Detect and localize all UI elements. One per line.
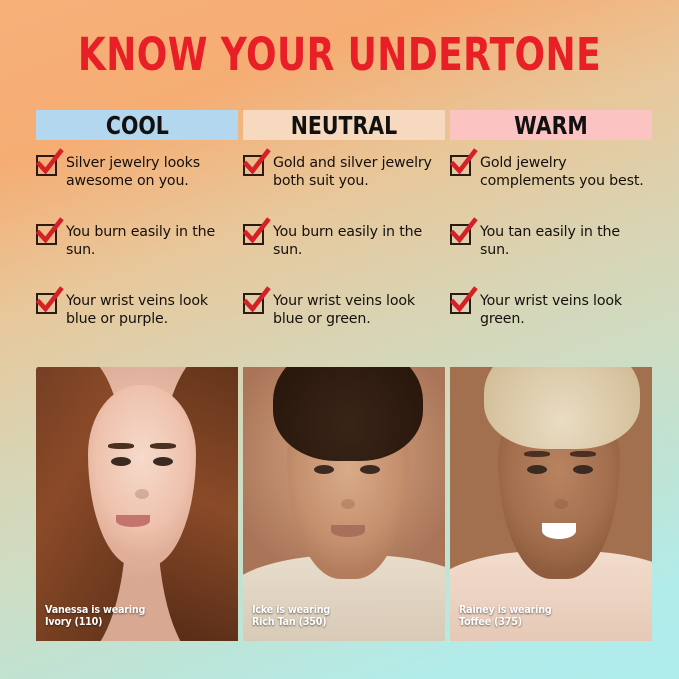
undertone-infographic: KNOW YOUR UNDERTONE COOL Silver jewelry … [0,0,679,679]
check-icon [450,224,471,245]
eye-shape [360,465,380,474]
nose-shape [341,499,355,509]
photo-caption-line2: Ivory (110) [45,616,145,629]
column-header-warm: WARM [450,110,652,140]
list-item-text: Gold jewelry complements you best. [480,153,652,190]
list-item: Gold jewelry complements you best. [450,153,652,205]
eyebrow-shape [150,443,176,449]
list-item: Gold and silver jewelry both suit you. [243,153,445,205]
check-icon [36,155,57,176]
check-icon [450,293,471,314]
column-header-cool: COOL [36,110,238,140]
list-item-text: Your wrist veins look green. [480,291,652,328]
list-item: You burn easily in the sun. [243,222,445,274]
checklist-warm: Gold jewelry complements you best. You t… [450,153,652,343]
eyebrow-shape [108,443,134,449]
eyebrow-shape [570,451,596,457]
eye-shape [153,457,173,466]
photo-caption: Icke is wearing Rich Tan (350) [252,604,330,629]
mouth-shape [542,523,576,539]
undertone-columns: COOL Silver jewelry looks awesome on you… [36,110,645,360]
list-item-text: You burn easily in the sun. [66,222,238,259]
column-header-warm-label: WARM [514,111,588,140]
nose-shape [554,499,568,509]
column-header-cool-label: COOL [106,111,169,140]
model-photo-rainey: Rainey is wearing Toffee (375) [450,367,652,641]
list-item-text: Silver jewelry looks awesome on you. [66,153,238,190]
model-photo-vanessa: Vanessa is wearing Ivory (110) [36,367,238,641]
check-icon [243,293,264,314]
check-icon [243,224,264,245]
column-neutral: NEUTRAL Gold and silver jewelry both sui… [243,110,445,360]
column-header-neutral: NEUTRAL [243,110,445,140]
mouth-shape [116,515,150,527]
page-title: KNOW YOUR UNDERTONE [68,32,611,77]
photo-caption-line1: Icke is wearing [252,604,330,617]
list-item-text: Your wrist veins look blue or green. [273,291,445,328]
checklist-cool: Silver jewelry looks awesome on you. You… [36,153,238,343]
list-item: You burn easily in the sun. [36,222,238,274]
list-item: You tan easily in the sun. [450,222,652,274]
list-item-text: You tan easily in the sun. [480,222,652,259]
list-item: Your wrist veins look green. [450,291,652,343]
photo-caption-line2: Rich Tan (350) [252,616,330,629]
hair-shape [273,367,423,461]
eye-shape [111,457,131,466]
eye-shape [527,465,547,474]
column-cool: COOL Silver jewelry looks awesome on you… [36,110,238,360]
list-item: Your wrist veins look blue or purple. [36,291,238,343]
model-photo-icke: Icke is wearing Rich Tan (350) [243,367,445,641]
list-item: Your wrist veins look blue or green. [243,291,445,343]
eyebrow-shape [524,451,550,457]
photo-caption-line1: Vanessa is wearing [45,604,145,617]
column-header-neutral-label: NEUTRAL [291,111,398,140]
list-item-text: You burn easily in the sun. [273,222,445,259]
checklist-neutral: Gold and silver jewelry both suit you. Y… [243,153,445,343]
photo-caption: Rainey is wearing Toffee (375) [459,604,552,629]
list-item-text: Your wrist veins look blue or purple. [66,291,238,328]
check-icon [243,155,264,176]
photo-caption-line1: Rainey is wearing [459,604,552,617]
check-icon [36,293,57,314]
check-icon [36,224,57,245]
photo-caption: Vanessa is wearing Ivory (110) [45,604,145,629]
check-icon [450,155,471,176]
mouth-shape [331,525,365,537]
column-warm: WARM Gold jewelry complements you best. … [450,110,652,360]
list-item-text: Gold and silver jewelry both suit you. [273,153,445,190]
model-photo-row: Vanessa is wearing Ivory (110) Icke is w… [36,367,645,641]
eye-shape [573,465,593,474]
list-item: Silver jewelry looks awesome on you. [36,153,238,205]
photo-caption-line2: Toffee (375) [459,616,552,629]
eye-shape [314,465,334,474]
nose-shape [135,489,149,499]
hair-shape [484,367,640,449]
